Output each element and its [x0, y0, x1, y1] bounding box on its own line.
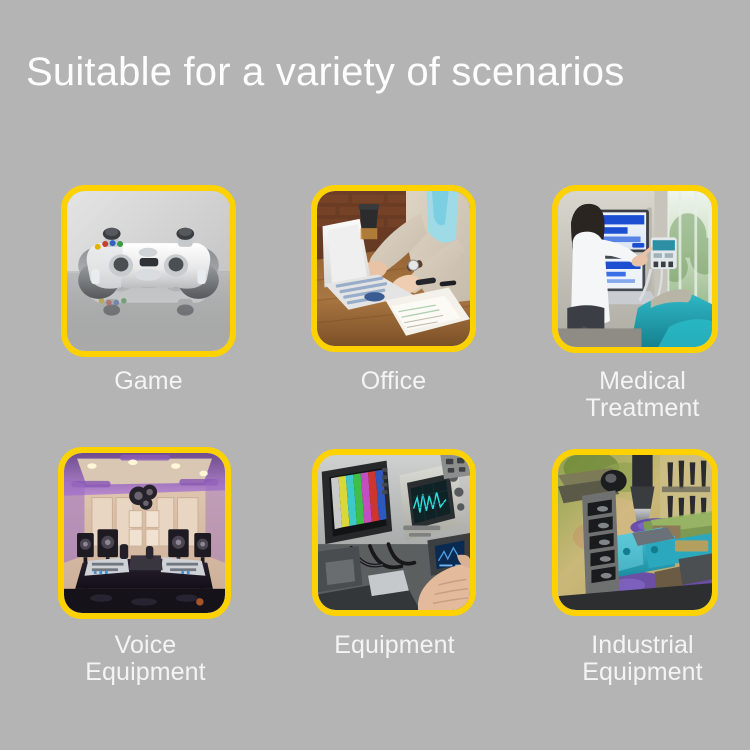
- card-label-equipment: Equipment: [292, 632, 497, 659]
- card-label-industrial: Industrial Equipment: [540, 632, 745, 686]
- card-label-office: Office: [291, 368, 496, 395]
- test-equipment-photo: [318, 455, 470, 610]
- card-frame-voice[interactable]: [58, 447, 231, 619]
- medical-monitor-photo: [558, 191, 712, 347]
- cnc-machine-photo: [558, 455, 712, 610]
- recording-studio-photo: [64, 453, 225, 613]
- card-frame-medical[interactable]: [552, 185, 718, 353]
- card-frame-equipment[interactable]: [312, 449, 476, 616]
- card-label-game: Game: [41, 368, 256, 395]
- card-frame-industrial[interactable]: [552, 449, 718, 616]
- game-controller-photo: [67, 191, 230, 351]
- card-label-medical: Medical Treatment: [540, 368, 745, 422]
- card-label-voice: Voice Equipment: [38, 632, 253, 686]
- scenario-showcase-page: Suitable for a variety of scenarios: [0, 0, 750, 750]
- page-title: Suitable for a variety of scenarios: [26, 47, 726, 99]
- office-laptop-photo: [317, 191, 470, 346]
- card-frame-office[interactable]: [311, 185, 476, 352]
- card-frame-game[interactable]: [61, 185, 236, 357]
